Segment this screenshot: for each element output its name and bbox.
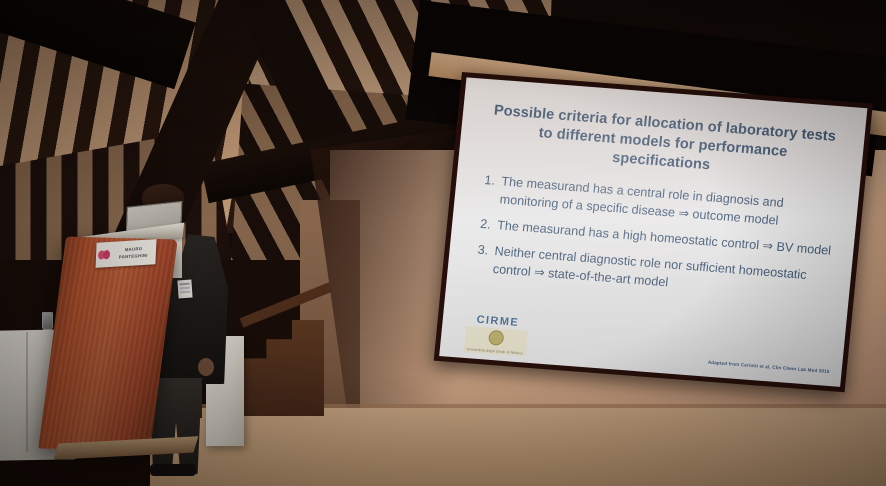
projection-screen: Possible criteria for allocation of labo… — [434, 72, 873, 392]
nameplate-first-name: MAURO — [125, 246, 143, 252]
slide-bullet-list: The measurand has a central role in diag… — [467, 172, 840, 305]
university-name: Università degli Studi di Milano — [464, 347, 526, 356]
tablecloth-fold — [26, 332, 28, 452]
university-crest-icon: Università degli Studi di Milano — [464, 326, 528, 357]
conference-photo: Possible criteria for allocation of labo… — [0, 0, 886, 486]
speaker-shoe — [150, 464, 196, 476]
crest-seal-icon — [488, 330, 504, 346]
nameplate-logo-icon — [98, 248, 112, 262]
floor — [150, 408, 886, 486]
nameplate-text: MAURO PANTEGHINI — [111, 245, 156, 260]
presentation-slide: Possible criteria for allocation of labo… — [439, 77, 867, 387]
slide-citation: Adapted from Ceriotti et al, Clin Chem L… — [708, 360, 830, 374]
speaker-name-badge — [177, 280, 192, 299]
water-glass — [42, 312, 53, 330]
nameplate-last-name: PANTEGHINI — [119, 252, 148, 259]
speaker-hand — [198, 358, 214, 376]
slide-title: Possible criteria for allocation of labo… — [489, 102, 838, 185]
speaker-nameplate: MAURO PANTEGHINI — [96, 239, 157, 268]
screen-frame: Possible criteria for allocation of labo… — [434, 72, 873, 392]
screen-surface: Possible criteria for allocation of labo… — [439, 77, 867, 387]
wooden-staircase — [244, 320, 324, 416]
cirme-logo: CIRME Università degli Studi di Milano — [458, 313, 536, 357]
